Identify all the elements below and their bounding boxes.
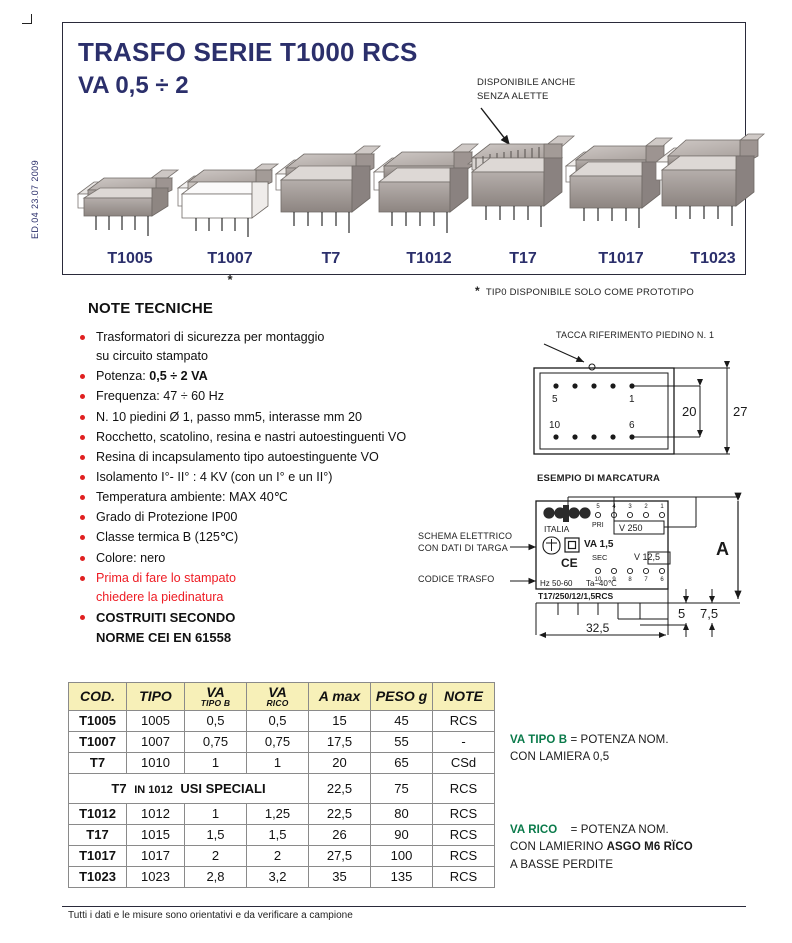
note-item: Trasformatori di sicurezza per montaggio… [78, 328, 528, 366]
cell-note: RCS [433, 773, 495, 803]
marking-va: VA 1,5 [584, 539, 614, 550]
note-text: Frequenza: 47 ÷ 60 Hz [96, 389, 224, 403]
cell-peso: 45 [371, 710, 433, 731]
cell-note: RCS [433, 710, 495, 731]
cell-va-rico: 0,5 [247, 710, 309, 731]
legend-va-rico-line2-pre: CON LAMIERINO [510, 841, 607, 853]
note-text: N. 10 piedini Ø 1, passo mm5, interasse … [96, 410, 362, 424]
cell-va-b: 1 [185, 752, 247, 773]
cell-va-b: 1,5 [185, 824, 247, 845]
legend-va-tipo-b-title: VA TIPO B [510, 734, 567, 746]
cell-peso: 80 [371, 803, 433, 824]
legend-va-tipo-b-line1: VA TIPO B = POTENZA NOM. [510, 732, 669, 749]
sec-pin-6: 6 [660, 577, 664, 583]
crop-mark [22, 14, 32, 24]
legend-va-rico-line2-bold: ASGO M6 RÏCO [607, 841, 693, 853]
cell-peso: 90 [371, 824, 433, 845]
no-fins-callout-line2: SENZA ALETTE [477, 90, 575, 104]
callout-schema-line1: SCHEMA ELETTRICO [418, 531, 512, 541]
pri-pin-1: 1 [660, 504, 664, 510]
cell-cod: T1023 [69, 866, 127, 887]
legend-va-rico-title: VA RICO [510, 824, 557, 836]
pin-dim-inner: 20 [682, 404, 696, 419]
cell-va-b: 2 [185, 845, 247, 866]
cell-note: RCS [433, 845, 495, 866]
header-va-rico: VA RICO [247, 683, 309, 711]
transformer-icon-t1007 [174, 144, 286, 244]
pri-pin-2: 2 [644, 504, 648, 510]
page-title: TRASFO SERIE T1000 RCS [78, 36, 418, 69]
marking-brand: ITALIA [544, 524, 570, 534]
note-item: Frequenza: 47 ÷ 60 Hz [78, 387, 528, 406]
note-item: N. 10 piedini Ø 1, passo mm5, interasse … [78, 408, 528, 427]
legend-va-rico: VA RICO = POTENZA NOM. CON LAMIERINO ASG… [510, 822, 693, 874]
cell-note: RCS [433, 824, 495, 845]
sec-pin-7: 7 [644, 577, 648, 583]
cell-va-rico: 2 [247, 845, 309, 866]
marking-dim-75: 7,5 [700, 606, 718, 621]
transformer-figure-1: T1007 * [174, 144, 286, 270]
header-tipo: TIPO [127, 683, 185, 711]
transformer-label-1: T1007 [174, 250, 286, 268]
pri-pin-5: 5 [596, 504, 600, 510]
header-va-tipo-b: VA TIPO B [185, 683, 247, 711]
note-text: Classe termica B (125℃) [96, 530, 238, 544]
marking-dim-width: 32,5 [586, 621, 610, 635]
note-text: Prima di fare lo stampato [96, 571, 236, 585]
transformer-icon-t1023 [650, 118, 776, 244]
notes-list: Trasformatori di sicurezza per montaggio… [78, 328, 528, 648]
header-note: NOTE [433, 683, 495, 711]
sec-pin-8: 8 [628, 577, 632, 583]
transformer-label-0: T1005 [74, 250, 186, 268]
cell-tipo: 1007 [127, 731, 185, 752]
cell-va-b: 1 [185, 803, 247, 824]
note-text: Temperatura ambiente: MAX 40℃ [96, 490, 288, 504]
marking-dim-5: 5 [678, 606, 685, 621]
legend-va-tipo-b-line2: CON LAMIERA 0,5 [510, 749, 669, 766]
marking-pri-label: PRI [592, 522, 604, 529]
cell-cod: T7 [69, 752, 127, 773]
cell-peso: 55 [371, 731, 433, 752]
transformer-figure-6: T1023 [650, 118, 776, 270]
table-row-special: T7 IN 1012 USI SPECIALI 22,5 75 RCS [69, 773, 495, 803]
pin-dim-outer: 27 [733, 404, 747, 419]
cell-cod: T1017 [69, 845, 127, 866]
note-continuation: NORME CEI EN 61558 [96, 628, 528, 648]
note-item: Resina di incapsulamento tipo autoesting… [78, 448, 528, 467]
note-strong: 0,5 ÷ 2 VA [149, 369, 207, 383]
legend-va-rico-line2: CON LAMIERINO ASGO M6 RÏCO [510, 839, 693, 856]
datasheet-page: ED.04 23.07 2009 TRASFO SERIE T1000 RCS … [0, 0, 792, 943]
cell-a-max: 17,5 [309, 731, 371, 752]
marking-sec-voltage: V 12,5 [634, 552, 660, 562]
marking-ta: Ta–40℃ [586, 579, 617, 588]
cell-cod: T1005 [69, 710, 127, 731]
cell-note: RCS [433, 803, 495, 824]
cell-va-b: 2,8 [185, 866, 247, 887]
table-row: T1017 1017 2 2 27,5 100 RCS [69, 845, 495, 866]
cell-va-rico: 0,75 [247, 731, 309, 752]
callout-code-trasfo: CODICE TRASFO [418, 574, 494, 584]
pin-label-10: 10 [549, 420, 561, 431]
cell-tipo: 1012 [127, 803, 185, 824]
note-continuation: su circuito stampato [96, 347, 528, 366]
note-text: COSTRUITI SECONDO [96, 610, 235, 625]
note-text: Isolamento I°- II° : 4 KV (con un I° e u… [96, 470, 332, 484]
cell-note: - [433, 731, 495, 752]
edition-stamp: ED.04 23.07 2009 [30, 160, 40, 239]
page-subtitle: VA 0,5 ÷ 2 [78, 72, 189, 100]
cell-a-max: 27,5 [309, 845, 371, 866]
cell-peso: 135 [371, 866, 433, 887]
notes-heading: NOTE TECNICHE [88, 300, 213, 317]
no-fins-callout: DISPONIBILE ANCHE SENZA ALETTE [477, 76, 575, 104]
no-fins-callout-line1: DISPONIBILE ANCHE [477, 76, 575, 90]
cell-cod: T17 [69, 824, 127, 845]
specifications-table: COD. TIPO VA TIPO B VA RICO A max PESO g… [68, 682, 495, 888]
note-item: Potenza: 0,5 ÷ 2 VA [78, 367, 528, 386]
cell-cod: T1007 [69, 731, 127, 752]
transformer-figure-0: T1005 [74, 154, 186, 270]
marking-hz: Hz 50-60 [540, 579, 573, 588]
prototype-note: *TIP0 DISPONIBILE SOLO COME PROTOTIPO [475, 284, 694, 298]
cell-va-rico: 3,2 [247, 866, 309, 887]
pin-drawing-title: TACCA RIFERIMENTO PIEDINO N. 1 [556, 330, 714, 340]
note-text: Grado di Protezione IP00 [96, 510, 237, 524]
header-peso: PESO g [371, 683, 433, 711]
note-item: Temperatura ambiente: MAX 40℃ [78, 488, 528, 507]
cell-a-max: 22,5 [309, 803, 371, 824]
note-continuation: chiedere la piedinatura [96, 588, 528, 607]
transformer-label-6: T1023 [650, 250, 776, 268]
cell-va-b: 0,5 [185, 710, 247, 731]
note-text: Trasformatori di sicurezza per montaggio [96, 330, 324, 344]
cell-va-b: 0,75 [185, 731, 247, 752]
header-a-max: A max [309, 683, 371, 711]
specifications-table-wrapper: COD. TIPO VA TIPO B VA RICO A max PESO g… [68, 682, 495, 888]
cell-tipo: 1005 [127, 710, 185, 731]
footer-rule [62, 906, 746, 907]
legend-va-rico-line1: VA RICO = POTENZA NOM. [510, 822, 693, 839]
pin-label-1: 1 [629, 394, 635, 405]
cell-a-max: 15 [309, 710, 371, 731]
table-row: T1023 1023 2,8 3,2 35 135 RCS [69, 866, 495, 887]
cell-peso: 65 [371, 752, 433, 773]
note-item: Isolamento I°- II° : 4 KV (con un I° e u… [78, 468, 528, 487]
cell-peso: 75 [371, 773, 433, 803]
transformer-figures: T1005 T1007 * [62, 110, 746, 270]
note-text: Potenza: [96, 369, 146, 383]
marking-code: T17/250/12/1,5RCS [538, 591, 613, 601]
note-item: Grado di Protezione IP00 [78, 508, 528, 527]
header-cod: COD. [69, 683, 127, 711]
marking-drawing-title: ESEMPIO DI MARCATURA [537, 473, 660, 484]
cell-peso: 100 [371, 845, 433, 866]
marking-dim-height: A [716, 539, 729, 559]
footer-note: Tutti i dati e le misure sono orientativ… [68, 910, 353, 921]
table-row: T1007 1007 0,75 0,75 17,5 55 - [69, 731, 495, 752]
cell-note: CSd [433, 752, 495, 773]
table-row: T7 1010 1 1 20 65 CSd [69, 752, 495, 773]
cell-tipo: 1017 [127, 845, 185, 866]
cell-a-max: 35 [309, 866, 371, 887]
table-row: T1005 1005 0,5 0,5 15 45 RCS [69, 710, 495, 731]
cell-a-max: 26 [309, 824, 371, 845]
pin-label-6: 6 [629, 420, 635, 431]
cell-va-rico: 1,25 [247, 803, 309, 824]
marking-ce-mark: CE [561, 556, 578, 570]
cell-special-usage: T7 IN 1012 USI SPECIALI [69, 773, 309, 803]
callout-schema-line2: CON DATI DI TARGA [418, 543, 508, 553]
transformer-star-1: * [174, 272, 286, 287]
cell-a-max: 20 [309, 752, 371, 773]
cell-note: RCS [433, 866, 495, 887]
note-item: Rocchetto, scatolino, resina e nastri au… [78, 428, 528, 447]
pin-layout-drawing: 5 1 10 6 20 27 [530, 340, 788, 458]
table-row: T17 1015 1,5 1,5 26 90 RCS [69, 824, 495, 845]
cell-cod: T1012 [69, 803, 127, 824]
cell-va-rico: 1,5 [247, 824, 309, 845]
cell-tipo: 1010 [127, 752, 185, 773]
marking-sec-label: SEC [592, 553, 608, 562]
note-text: Resina di incapsulamento tipo autoesting… [96, 450, 379, 464]
legend-va-tipo-b-eq: = POTENZA NOM. [570, 734, 668, 746]
table-header-row: COD. TIPO VA TIPO B VA RICO A max PESO g… [69, 683, 495, 711]
table-row: T1012 1012 1 1,25 22,5 80 RCS [69, 803, 495, 824]
pri-pin-3: 3 [628, 504, 632, 510]
cell-tipo: 1023 [127, 866, 185, 887]
prototype-note-text: TIP0 DISPONIBILE SOLO COME PROTOTIPO [486, 287, 694, 298]
legend-va-rico-eq: = POTENZA NOM. [571, 824, 669, 836]
pin-label-5: 5 [552, 394, 558, 405]
note-item-standard: COSTRUITI SECONDO NORME CEI EN 61558 [78, 608, 528, 648]
legend-va-rico-line3: A BASSE PERDITE [510, 857, 693, 874]
marking-pri-voltage: V 250 [619, 523, 643, 533]
cell-tipo: 1015 [127, 824, 185, 845]
cell-a-max: 22,5 [309, 773, 371, 803]
transformer-icon-t1005 [74, 154, 186, 244]
legend-va-tipo-b: VA TIPO B = POTENZA NOM. CON LAMIERA 0,5 [510, 732, 669, 767]
note-text: Rocchetto, scatolino, resina e nastri au… [96, 430, 406, 444]
marking-example-drawing: ITALIA CE 54 32 1 PRI V 250 VA 1,5 SEC V… [500, 485, 790, 645]
cell-va-rico: 1 [247, 752, 309, 773]
note-text: Colore: nero [96, 551, 165, 565]
prototype-star: * [475, 284, 480, 298]
